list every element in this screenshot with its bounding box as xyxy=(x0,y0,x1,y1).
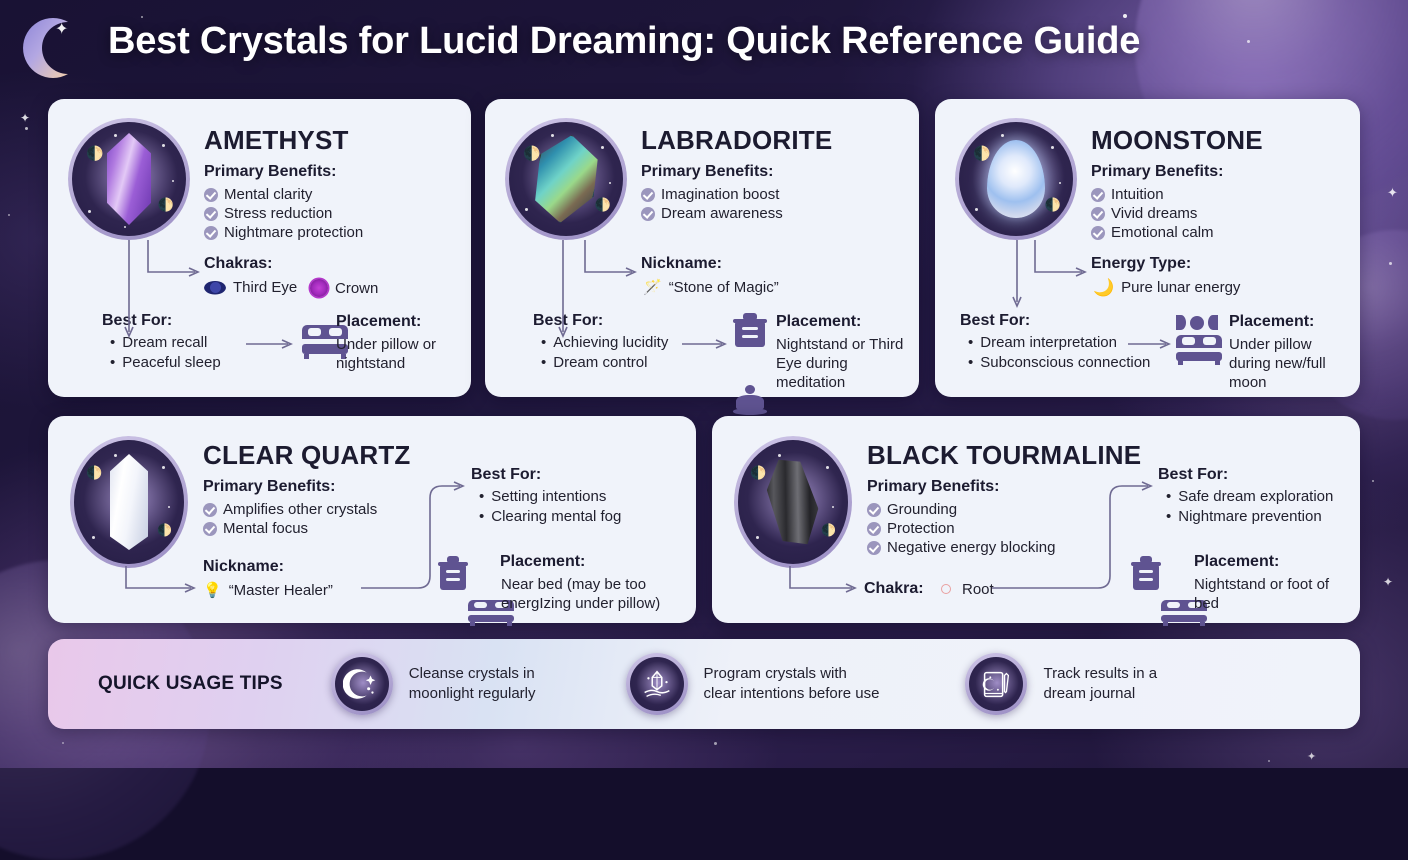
root-chakra-icon xyxy=(933,576,958,601)
dream-journal-icon xyxy=(965,653,1027,715)
best-for-text: Peaceful sleep xyxy=(122,354,220,371)
crystal-card-amethyst[interactable]: 🌓 🌓 AMETHYST Primary Benefits: Mental cl… xyxy=(48,99,471,397)
benefit-item: Intuition xyxy=(1091,185,1214,204)
best-for-label: Best For: xyxy=(533,312,603,330)
nickname-text: “Master Healer” xyxy=(229,582,333,599)
chakra-name: Root xyxy=(962,581,994,598)
moon-icon: 🌓 xyxy=(821,524,836,536)
sparkle-star: ✦ xyxy=(55,22,68,38)
crystal-card-black-tourmaline[interactable]: 🌓 🌓 BLACK TOURMALINE Primary Benefits: G… xyxy=(712,416,1360,623)
crystal-in-hand-icon xyxy=(626,653,688,715)
crystal-medallion-black-tourmaline: 🌓 🌓 xyxy=(734,436,852,568)
medallion-face: 🌓 🌓 xyxy=(72,122,186,236)
best-for-list: Dream interpretation Subconscious connec… xyxy=(968,334,1150,374)
crystal-name: CLEAR QUARTZ xyxy=(203,440,411,471)
star xyxy=(162,466,165,469)
sparkle-star: ✦ xyxy=(1387,186,1398,199)
star xyxy=(756,536,759,539)
chakra-third-eye: Third Eye xyxy=(204,279,297,296)
energy-type-row: 🌙 Pure lunar energy xyxy=(1093,279,1240,296)
placement-label: Placement: xyxy=(1229,313,1314,331)
star xyxy=(1059,182,1061,184)
placement-label: Placement: xyxy=(336,313,421,331)
best-for-item: Dream recall xyxy=(110,334,221,354)
best-for-text: Setting intentions xyxy=(491,488,606,505)
star xyxy=(1372,480,1374,482)
tip-text: Program crystals with clear intentions b… xyxy=(704,664,880,704)
placement-text: Under pillow or nightstand xyxy=(336,335,462,373)
sparkle-star: ✦ xyxy=(20,112,30,124)
benefits-list: Mental clarity Stress reduction Nightmar… xyxy=(204,185,363,242)
benefit-label: Grounding xyxy=(887,501,957,518)
best-for-item: Subconscious connection xyxy=(968,354,1150,374)
primary-benefits-label: Primary Benefits: xyxy=(867,478,1000,496)
benefits-list: Intuition Vivid dreams Emotional calm xyxy=(1091,185,1214,242)
moon-icon: 🌓 xyxy=(523,146,540,160)
best-for-list: Achieving lucidity Dream control xyxy=(541,334,668,374)
moon-icon: 🌓 xyxy=(86,146,103,160)
benefit-label: Dream awareness xyxy=(661,205,783,222)
star xyxy=(1051,146,1054,149)
star xyxy=(601,146,604,149)
best-for-item: Clearing mental fog xyxy=(479,508,621,528)
nickname-row: 💡 “Master Healer” xyxy=(203,582,333,599)
nightstand-icon xyxy=(735,313,765,347)
moon-icon: 🌓 xyxy=(595,198,611,211)
benefit-item: Negative energy blocking xyxy=(867,538,1055,557)
benefit-item: Amplifies other crystals xyxy=(203,500,377,519)
medallion-face: 🌓 🌓 xyxy=(738,440,848,564)
star xyxy=(114,134,117,137)
benefit-item: Dream awareness xyxy=(641,204,783,223)
page-header: ✦ Best Crystals for Lucid Dreaming: Quic… xyxy=(0,0,1408,95)
benefit-label: Vivid dreams xyxy=(1111,205,1197,222)
meditation-pose-icon xyxy=(733,385,767,415)
chakra-label: Chakra: xyxy=(864,580,924,598)
best-for-text: Achieving lucidity xyxy=(553,334,668,351)
nickname-text: “Stone of Magic” xyxy=(669,279,779,296)
moon-icon: 🌓 xyxy=(86,466,102,479)
tip-line-2: dream journal xyxy=(1043,684,1157,704)
medallion-face: 🌓 🌓 xyxy=(74,440,184,564)
best-for-list: Setting intentions Clearing mental fog xyxy=(479,488,621,528)
chakra-crown: Crown xyxy=(310,279,378,297)
tip-item-program[interactable]: Program crystals with clear intentions b… xyxy=(626,653,880,715)
best-for-item: Safe dream exploration xyxy=(1166,488,1333,508)
star xyxy=(832,506,834,508)
best-for-text: Safe dream exploration xyxy=(1178,488,1333,505)
best-for-list: Dream recall Peaceful sleep xyxy=(110,334,221,374)
benefits-list: Grounding Protection Negative energy blo… xyxy=(867,500,1055,557)
quick-usage-tips-bar: QUICK USAGE TIPS Cleanse crystals in moo… xyxy=(48,639,1360,729)
crystal-name: MOONSTONE xyxy=(1091,125,1263,156)
crystal-medallion-clear-quartz: 🌓 🌓 xyxy=(70,436,188,568)
best-for-item: Peaceful sleep xyxy=(110,354,221,374)
best-for-item: Dream interpretation xyxy=(968,334,1150,354)
placement-text: Under pillow during new/full moon xyxy=(1229,335,1347,392)
benefit-item: Grounding xyxy=(867,500,1055,519)
clear-quartz-crystal-icon xyxy=(110,454,148,550)
best-for-item: Nightmare prevention xyxy=(1166,508,1333,528)
star xyxy=(62,742,64,744)
star xyxy=(778,454,781,457)
benefit-item: Mental focus xyxy=(203,519,377,538)
best-for-text: Clearing mental fog xyxy=(491,508,621,525)
nickname-row: 🪄 “Stone of Magic” xyxy=(643,279,779,296)
primary-benefits-label: Primary Benefits: xyxy=(641,163,774,181)
energy-type-label: Energy Type: xyxy=(1091,255,1191,273)
nickname-label: Nickname: xyxy=(203,558,284,576)
black-tourmaline-crystal-icon xyxy=(762,455,823,549)
benefits-list: Amplifies other crystals Mental focus xyxy=(203,500,377,538)
moonstone-crystal-icon xyxy=(987,140,1045,218)
check-icon xyxy=(867,522,881,536)
star xyxy=(826,466,829,469)
check-icon xyxy=(204,207,218,221)
moon-icon: 🌓 xyxy=(157,524,172,536)
sparkle-star: ✦ xyxy=(1307,752,1316,763)
benefit-label: Nightmare protection xyxy=(224,224,363,241)
medallion-face: 🌓 🌓 xyxy=(509,122,623,236)
best-for-list: Safe dream exploration Nightmare prevent… xyxy=(1166,488,1333,528)
star xyxy=(25,127,28,130)
energy-type-text: Pure lunar energy xyxy=(1121,279,1240,296)
benefit-item: Vivid dreams xyxy=(1091,204,1214,223)
star xyxy=(124,226,126,228)
waxing-moon-icon xyxy=(1176,315,1186,330)
primary-benefits-label: Primary Benefits: xyxy=(204,163,337,181)
benefit-label: Negative energy blocking xyxy=(887,539,1055,556)
benefit-label: Intuition xyxy=(1111,186,1164,203)
placement-label: Placement: xyxy=(1194,553,1279,571)
star xyxy=(162,144,165,147)
best-for-text: Dream control xyxy=(553,354,647,371)
benefit-label: Protection xyxy=(887,520,955,537)
moon-icon: 🌓 xyxy=(750,466,766,479)
benefits-list: Imagination boost Dream awareness xyxy=(641,185,783,223)
crystal-name: BLACK TOURMALINE xyxy=(867,440,1141,471)
star xyxy=(114,454,117,457)
moon-icon: 🌓 xyxy=(158,198,174,211)
tip-item-journal[interactable]: Track results in a dream journal xyxy=(965,653,1157,715)
placement-text: Near bed (may be too energIzing under pi… xyxy=(435,575,685,613)
crystal-name: LABRADORITE xyxy=(641,125,832,156)
placement-text: Nightstand or foot of bed xyxy=(1194,575,1344,613)
crystal-medallion-moonstone: 🌓 🌓 xyxy=(955,118,1077,240)
best-for-text: Dream interpretation xyxy=(980,334,1117,351)
check-icon xyxy=(204,226,218,240)
tip-line-2: moonlight regularly xyxy=(409,684,536,704)
star xyxy=(1268,760,1270,762)
check-icon xyxy=(1091,226,1105,240)
chakra-label: Crown xyxy=(335,280,378,297)
best-for-label: Best For: xyxy=(471,466,541,484)
star xyxy=(551,134,554,137)
benefit-label: Amplifies other crystals xyxy=(223,501,377,518)
crystal-card-clear-quartz[interactable]: 🌓 🌓 CLEAR QUARTZ Primary Benefits: Ampli… xyxy=(48,416,696,623)
placement-label: Placement: xyxy=(500,553,585,571)
benefit-item: Imagination boost xyxy=(641,185,783,204)
nickname-label: Nickname: xyxy=(641,255,722,273)
crystal-name: AMETHYST xyxy=(204,125,349,156)
crown-chakra-icon xyxy=(310,279,328,297)
primary-benefits-label: Primary Benefits: xyxy=(1091,163,1224,181)
sparkle-star: ✦ xyxy=(1383,576,1393,588)
moon-phases-icon xyxy=(1176,315,1218,330)
check-icon xyxy=(1091,188,1105,202)
check-icon xyxy=(867,503,881,517)
labradorite-crystal-icon xyxy=(525,129,606,229)
best-for-text: Dream recall xyxy=(122,334,207,351)
star xyxy=(1389,262,1392,265)
bed-icon xyxy=(1176,335,1222,365)
tip-line-2: clear intentions before use xyxy=(704,684,880,704)
tip-text: Cleanse crystals in moonlight regularly xyxy=(409,664,536,704)
check-icon xyxy=(203,522,217,536)
tip-text: Track results in a dream journal xyxy=(1043,664,1157,704)
crystal-card-moonstone[interactable]: 🌓 🌓 MOONSTONE Primary Benefits: Intuitio… xyxy=(935,99,1360,397)
star xyxy=(525,208,528,211)
amethyst-crystal-icon xyxy=(107,133,151,225)
third-eye-chakra-icon xyxy=(204,281,226,295)
star xyxy=(168,506,170,508)
benefit-label: Emotional calm xyxy=(1111,224,1214,241)
tip-line-1: Track results in a xyxy=(1043,664,1157,684)
benefit-label: Imagination boost xyxy=(661,186,779,203)
check-icon xyxy=(867,541,881,555)
benefit-label: Mental clarity xyxy=(224,186,312,203)
benefit-item: Nightmare protection xyxy=(204,223,363,242)
benefit-item: Mental clarity xyxy=(204,185,363,204)
best-for-text: Subconscious connection xyxy=(980,354,1150,371)
best-for-label: Best For: xyxy=(1158,466,1228,484)
best-for-label: Best For: xyxy=(960,312,1030,330)
best-for-item: Achieving lucidity xyxy=(541,334,668,354)
tip-line-1: Cleanse crystals in xyxy=(409,664,536,684)
benefit-item: Protection xyxy=(867,519,1055,538)
check-icon xyxy=(641,188,655,202)
benefit-item: Emotional calm xyxy=(1091,223,1214,242)
benefit-item: Stress reduction xyxy=(204,204,363,223)
star xyxy=(172,180,174,182)
chakra-label: Third Eye xyxy=(233,279,297,296)
check-icon xyxy=(641,207,655,221)
star xyxy=(8,214,10,216)
moon-stars-icon xyxy=(331,653,393,715)
magic-wand-icon: 🪄 xyxy=(643,280,662,295)
tip-item-cleanse[interactable]: Cleanse crystals in moonlight regularly xyxy=(331,653,536,715)
best-for-item: Setting intentions xyxy=(479,488,621,508)
star xyxy=(88,210,91,213)
medallion-face: 🌓 🌓 xyxy=(959,122,1073,236)
moon-icon: 🌓 xyxy=(1045,198,1061,211)
star xyxy=(975,208,978,211)
best-for-item: Dream control xyxy=(541,354,668,374)
waning-moon-icon xyxy=(1208,315,1218,330)
check-icon xyxy=(204,188,218,202)
full-moon-icon xyxy=(1190,316,1204,330)
primary-benefits-label: Primary Benefits: xyxy=(203,478,336,496)
best-for-text: Nightmare prevention xyxy=(1178,508,1321,525)
benefit-label: Mental focus xyxy=(223,520,308,537)
star xyxy=(714,742,717,745)
crystal-card-labradorite[interactable]: 🌓 🌓 LABRADORITE Primary Benefits: Imagin… xyxy=(485,99,919,397)
chakras-label: Chakras: xyxy=(204,255,272,273)
crystal-medallion-labradorite: 🌓 🌓 xyxy=(505,118,627,240)
crescent-moon-icon: 🌙 xyxy=(1093,279,1114,296)
crystal-medallion-amethyst: 🌓 🌓 xyxy=(68,118,190,240)
star xyxy=(1001,134,1004,137)
star xyxy=(92,536,95,539)
check-icon xyxy=(1091,207,1105,221)
best-for-label: Best For: xyxy=(102,312,172,330)
sun-burst-icon: 💡 xyxy=(203,583,222,598)
placement-text: Nightstand or Third Eye during meditatio… xyxy=(776,335,910,392)
benefit-label: Stress reduction xyxy=(224,205,332,222)
check-icon xyxy=(203,503,217,517)
star xyxy=(609,182,611,184)
chakra-root-row: Root xyxy=(937,580,994,598)
tips-title: QUICK USAGE TIPS xyxy=(98,673,283,695)
nightstand-icon xyxy=(1133,556,1159,590)
moon-icon: 🌓 xyxy=(973,146,990,160)
tip-line-1: Program crystals with xyxy=(704,664,880,684)
placement-label: Placement: xyxy=(776,313,861,331)
page-title: Best Crystals for Lucid Dreaming: Quick … xyxy=(108,20,1140,63)
